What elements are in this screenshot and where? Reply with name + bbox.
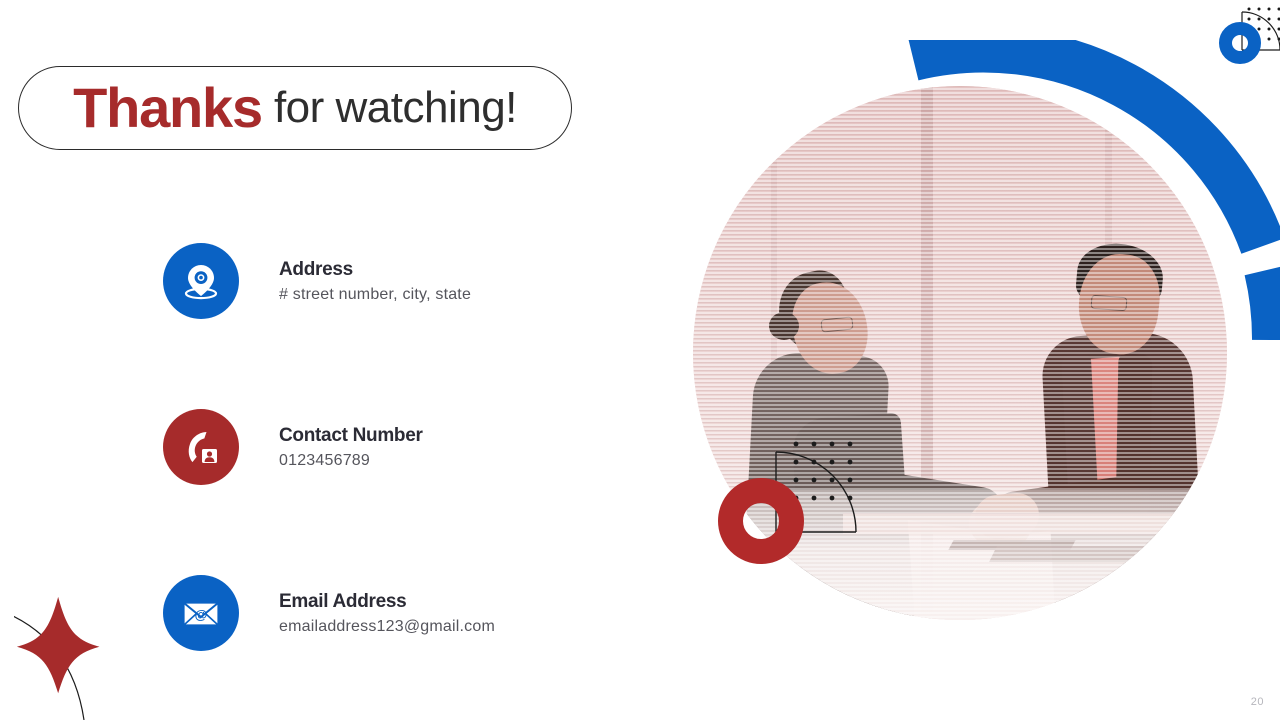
contact-row-address: Address # street number, city, state bbox=[163, 243, 623, 319]
contact-row-email: @ Email Address emailaddress123@gmail.co… bbox=[163, 575, 623, 651]
contact-row-phone: Contact Number 0123456789 bbox=[163, 409, 623, 485]
contact-text-phone: Contact Number 0123456789 bbox=[279, 425, 423, 470]
svg-text:@: @ bbox=[195, 607, 208, 622]
contact-title: Address bbox=[279, 259, 471, 281]
contact-text-email: Email Address emailaddress123@gmail.com bbox=[279, 591, 495, 636]
phone-contact-icon bbox=[163, 409, 239, 485]
contact-value: emailaddress123@gmail.com bbox=[279, 618, 495, 636]
location-pin-icon bbox=[163, 243, 239, 319]
contact-list: Address # street number, city, state Con… bbox=[163, 243, 623, 651]
page-number: 20 bbox=[1251, 696, 1264, 708]
contact-title: Contact Number bbox=[279, 425, 423, 447]
contact-title: Email Address bbox=[279, 591, 495, 613]
star-sparkle-decoration bbox=[14, 596, 164, 720]
slide-canvas: Thanks for watching! Address # street nu… bbox=[0, 0, 1280, 720]
title-rest: for watching! bbox=[274, 86, 517, 130]
blue-donut-decoration bbox=[1219, 22, 1261, 64]
contact-text-address: Address # street number, city, state bbox=[279, 259, 471, 304]
contact-value: # street number, city, state bbox=[279, 286, 471, 304]
envelope-at-icon: @ bbox=[163, 575, 239, 651]
dot-grid-icon bbox=[792, 440, 856, 504]
title-pill: Thanks for watching! bbox=[18, 66, 572, 150]
red-donut-decoration bbox=[718, 478, 804, 564]
contact-value: 0123456789 bbox=[279, 452, 423, 470]
title-strong: Thanks bbox=[73, 80, 262, 136]
